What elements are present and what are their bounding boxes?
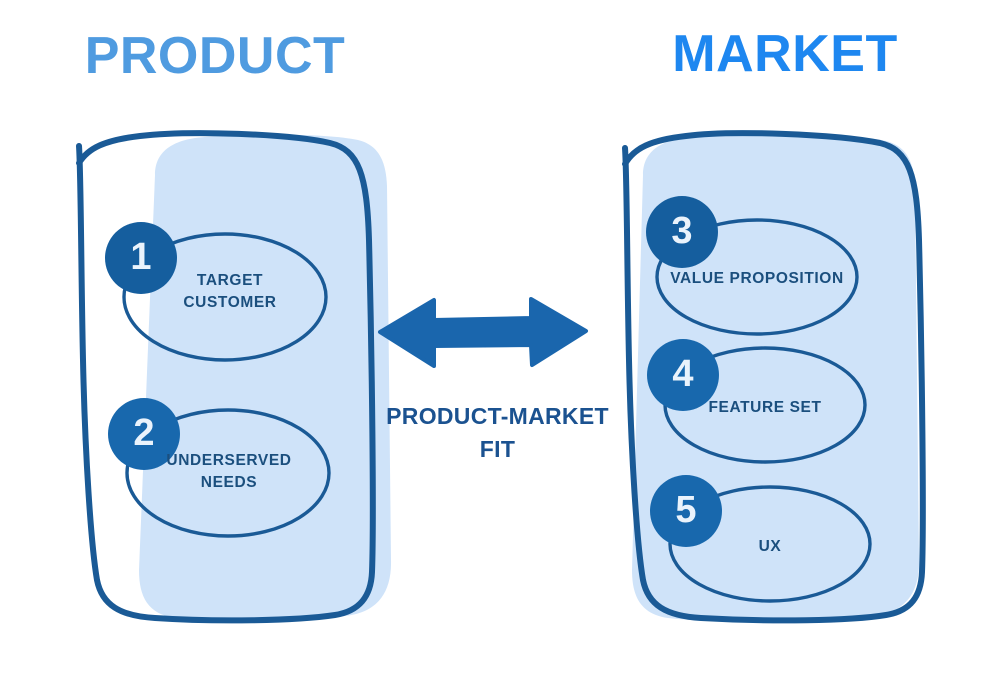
label-target-customer: TARGET CUSTOMER xyxy=(145,270,315,315)
caption-line-2: FIT xyxy=(370,433,625,466)
label-line-2: CUSTOMER xyxy=(145,292,315,314)
label-line-2: NEEDS xyxy=(143,472,315,494)
label-feature-set: FEATURE SET xyxy=(665,397,865,419)
double-headed-horizontal-arrow-icon xyxy=(380,299,586,366)
badge-number-2: 2 xyxy=(114,414,174,452)
diagram-artwork xyxy=(0,0,985,674)
badge-number-4: 4 xyxy=(653,355,713,393)
label-line-1: UNDERSERVED xyxy=(143,450,315,472)
product-container-fill xyxy=(139,135,391,622)
label-value-proposition: VALUE PROPOSITION xyxy=(657,268,857,290)
label-line-1: VALUE PROPOSITION xyxy=(657,268,857,290)
label-underserved-needs: UNDERSERVED NEEDS xyxy=(143,450,315,495)
label-line-1: FEATURE SET xyxy=(665,397,865,419)
label-line-1: TARGET xyxy=(145,270,315,292)
badge-number-3: 3 xyxy=(652,212,712,250)
badge-number-5: 5 xyxy=(656,491,716,529)
caption-line-1: PRODUCT-MARKET xyxy=(370,400,625,433)
diagram-canvas: PRODUCT MARKET 1 2 3 4 5 xyxy=(0,0,985,674)
product-market-fit-caption: PRODUCT-MARKET FIT xyxy=(370,400,625,467)
label-ux: UX xyxy=(670,536,870,558)
label-line-1: UX xyxy=(670,536,870,558)
